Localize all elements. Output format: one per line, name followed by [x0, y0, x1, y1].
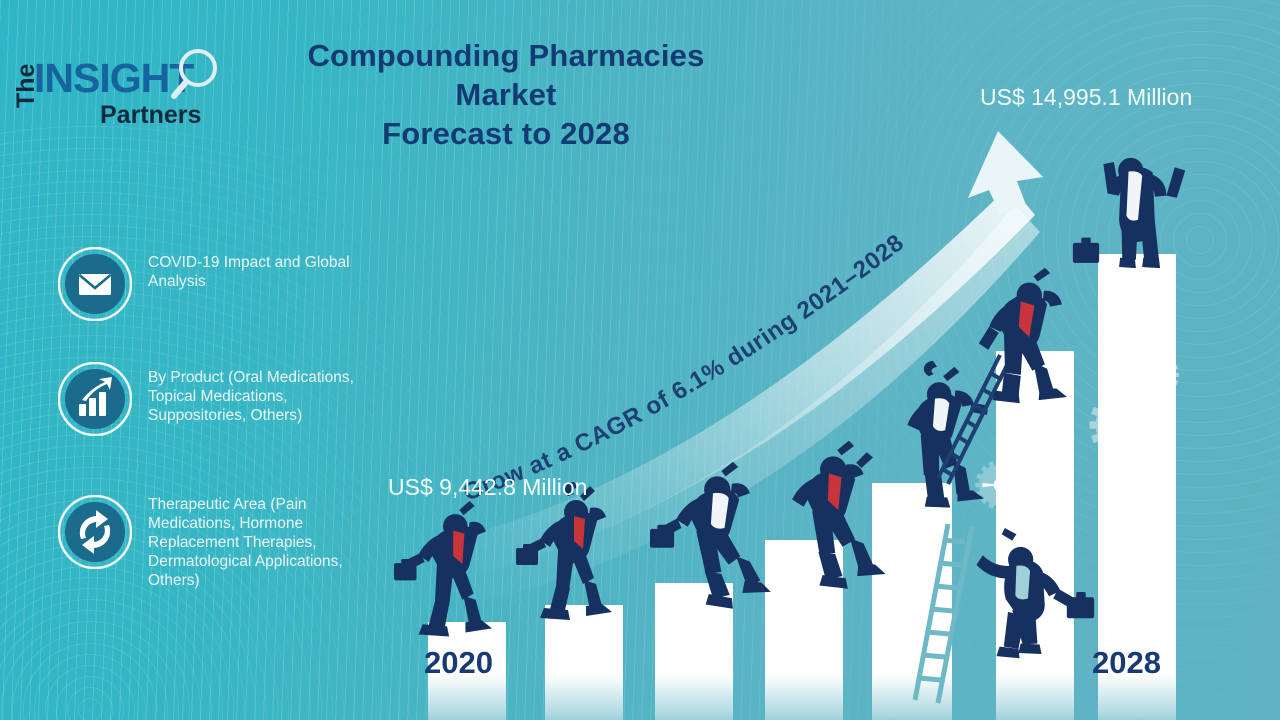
figure-running-businesswoman-2 [516, 482, 612, 620]
title-line-1: Compounding Pharmacies [228, 36, 784, 75]
end-value-label: US$ 14,995.1 Million [980, 84, 1192, 111]
start-year-label: 2020 [424, 645, 493, 681]
end-year-label: 2028 [1092, 645, 1161, 681]
sidebar-item-label: Therapeutic Area (Pain Medications, Horm… [148, 495, 370, 590]
figure-climbing-businessman-6 [979, 268, 1067, 403]
figure-businessman-holding-ladder [977, 528, 1095, 658]
brand-logo[interactable]: The INSIGHT Partners [8, 30, 223, 130]
figure-running-businessman-3 [650, 462, 771, 609]
ladder-icon [915, 524, 972, 703]
sidebar-item-label: By Product (Oral Medications, Topical Me… [148, 362, 370, 425]
figure-celebrating-businessman-7 [1073, 158, 1185, 268]
figure-running-businessman-4 [792, 441, 885, 589]
logo-partners: Partners [100, 101, 201, 129]
briefcase-icon [1073, 238, 1099, 263]
logo-insight: INSIGHT [34, 55, 194, 101]
figure-running-businesswoman-5 [907, 361, 988, 508]
infographic-canvas: Grow at a CAGR of 6.1% during 2021–2028 [0, 0, 1280, 720]
title-line-3: Forecast to 2028 [228, 114, 784, 153]
briefcase-icon [1067, 592, 1094, 618]
sidebar-item-covid-impact[interactable]: COVID-19 Impact and Global Analysis [58, 247, 370, 321]
figure-running-businessman-1 [394, 501, 492, 637]
start-value-label: US$ 9,442.8 Million [388, 474, 587, 501]
sidebar-item-by-product[interactable]: By Product (Oral Medications, Topical Me… [58, 362, 370, 436]
title-line-2: Market [228, 75, 784, 114]
page-title: Compounding Pharmacies Market Forecast t… [228, 36, 784, 153]
sidebar-item-label: COVID-19 Impact and Global Analysis [148, 247, 370, 291]
sidebar-item-therapeutic-area[interactable]: Therapeutic Area (Pain Medications, Horm… [58, 495, 370, 590]
envelope-icon [58, 247, 132, 321]
refresh-cycle-icon [58, 495, 132, 569]
envelope-glyph [79, 274, 111, 295]
shirt-light [1015, 566, 1030, 600]
bar-chart-arrow-icon [58, 362, 132, 436]
